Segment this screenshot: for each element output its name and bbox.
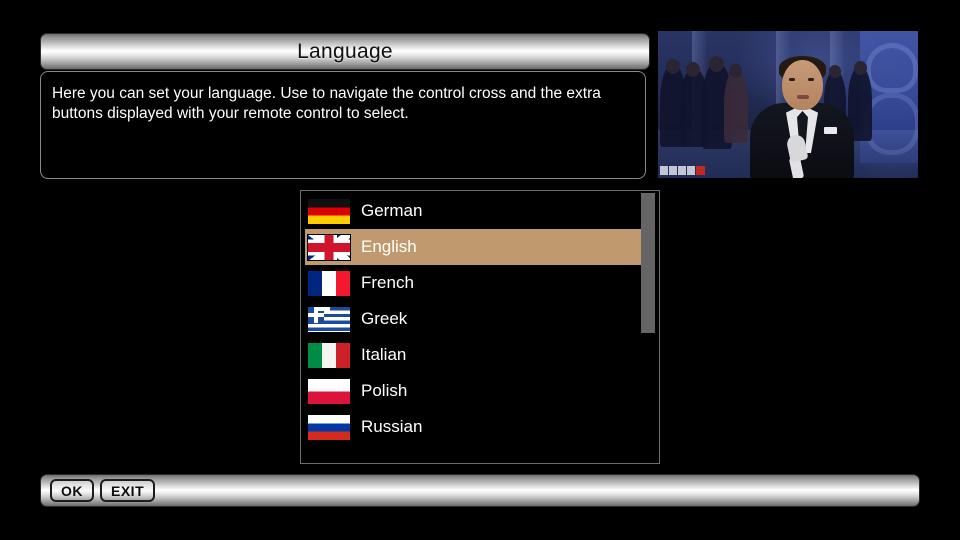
- language-item-english[interactable]: English: [305, 229, 643, 265]
- language-item-label: German: [361, 201, 422, 221]
- bottom-bar: OK EXIT: [40, 474, 920, 507]
- language-item-german[interactable]: German: [305, 193, 643, 229]
- reporter-pocket-square: [824, 127, 837, 134]
- page-title: Language: [297, 40, 393, 64]
- video-preview[interactable]: [658, 31, 918, 178]
- language-item-label: Russian: [361, 417, 422, 437]
- crowd-head: [709, 56, 724, 72]
- list-scrollbar-thumb[interactable]: [641, 193, 655, 333]
- crowd-head: [729, 64, 742, 78]
- description-text: Here you can set your language. Use to n…: [52, 84, 634, 124]
- crowd-figure: [724, 71, 748, 143]
- title-bar: Language: [40, 33, 650, 70]
- language-item-label: Italian: [361, 345, 406, 365]
- flag-icon-german: [307, 198, 351, 225]
- flag-icon-italian: [307, 342, 351, 369]
- crowd-head: [854, 61, 867, 75]
- tv-settings-screen: Language Here you can set your language.…: [0, 0, 960, 540]
- exit-button[interactable]: EXIT: [100, 479, 155, 502]
- language-item-label: English: [361, 237, 417, 257]
- flag-icon-polish: [307, 378, 351, 405]
- flag-icon-french: [307, 270, 351, 297]
- crowd-head: [829, 65, 841, 78]
- crowd-head: [686, 62, 700, 77]
- language-list[interactable]: GermanEnglishFrenchGreekItalianPolishRus…: [305, 193, 643, 445]
- crowd-head: [666, 59, 680, 74]
- language-item-polish[interactable]: Polish: [305, 373, 643, 409]
- language-item-label: French: [361, 273, 414, 293]
- description-panel: Here you can set your language. Use to n…: [40, 71, 646, 179]
- language-list-panel: GermanEnglishFrenchGreekItalianPolishRus…: [300, 190, 660, 464]
- reporter-mouth: [797, 95, 809, 99]
- flag-icon-greek: [307, 306, 351, 333]
- language-item-russian[interactable]: Russian: [305, 409, 643, 445]
- ok-button[interactable]: OK: [50, 479, 94, 502]
- language-item-french[interactable]: French: [305, 265, 643, 301]
- reporter-eye: [789, 78, 795, 81]
- language-item-greek[interactable]: Greek: [305, 301, 643, 337]
- language-item-label: Greek: [361, 309, 407, 329]
- channel-bug: [660, 165, 705, 176]
- reporter-face: [782, 60, 823, 110]
- list-scrollbar[interactable]: [641, 193, 655, 463]
- flag-icon-russian: [307, 414, 351, 441]
- language-item-label: Polish: [361, 381, 407, 401]
- reporter-eye: [808, 78, 814, 81]
- language-item-italian[interactable]: Italian: [305, 337, 643, 373]
- flag-icon-english: [307, 234, 351, 261]
